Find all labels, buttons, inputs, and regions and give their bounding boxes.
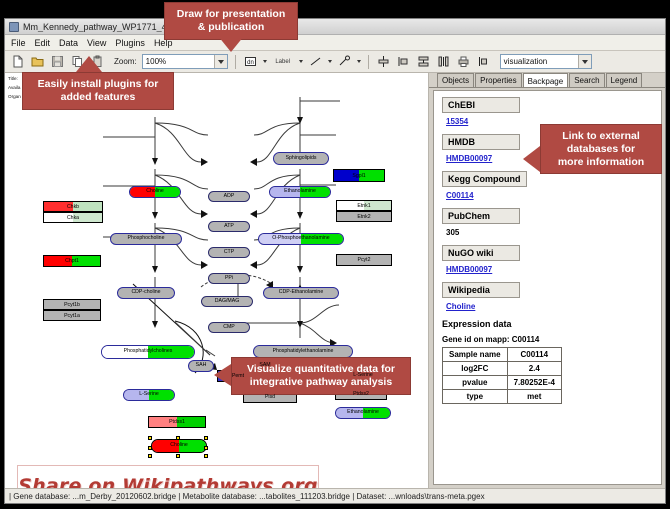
status-bar-text: | Gene database: ...m_Derby_20120602.bri…: [9, 492, 485, 501]
tab-objects[interactable]: Objects: [437, 73, 474, 87]
gene-label: Pcyt2: [358, 257, 371, 263]
node-ethanolamine-top[interactable]: Ethanolamine: [269, 186, 331, 198]
status-bar: | Gene database: ...m_Derby_20120602.bri…: [5, 488, 665, 503]
plugins-callout: Easily install plugins for added feature…: [22, 72, 174, 110]
gene-chkb[interactable]: Chkb: [43, 201, 103, 212]
gene-label: Etnk1: [357, 203, 370, 209]
share-banner: Share on Wikipathways.org: [17, 465, 319, 488]
node-cmp[interactable]: CMP: [208, 322, 250, 333]
node-label: SAH: [196, 363, 207, 368]
stack-vertical-icon[interactable]: [416, 54, 431, 69]
gene-label: Ptdss2: [353, 391, 369, 397]
cell-key: type: [443, 390, 508, 404]
menu-item-edit[interactable]: Edit: [35, 38, 51, 48]
menu-item-plugins[interactable]: Plugins: [115, 38, 145, 48]
svg-text:dn: dn: [247, 60, 254, 66]
gene-pcyt2[interactable]: Pcyt2: [336, 254, 392, 266]
tab-legend[interactable]: Legend: [606, 73, 643, 87]
node-ctp[interactable]: CTP: [208, 247, 250, 258]
section-header-nugo: NuGO wiki: [442, 245, 520, 261]
gene-label: Etnk2: [357, 214, 370, 220]
visualize-callout-arrow-icon: [214, 364, 231, 386]
gene-chpt1[interactable]: Chpt1: [43, 255, 101, 267]
cell-value: met: [507, 390, 561, 404]
label-chevron-icon[interactable]: [299, 60, 303, 63]
distribute-icon[interactable]: [436, 54, 451, 69]
gene-etnk2[interactable]: Etnk2: [336, 211, 392, 222]
tab-properties[interactable]: Properties: [475, 73, 521, 87]
node-o-phosphoethanolamine[interactable]: O-Phosphoethanolamine: [258, 233, 344, 245]
open-folder-icon[interactable]: [30, 54, 45, 69]
datanode-icon[interactable]: dn: [243, 54, 258, 69]
section-header-kegg: Kegg Compound: [442, 171, 527, 187]
draw-callout: Draw for presentation & publication: [164, 2, 298, 40]
table-row: type met: [443, 390, 562, 404]
gene-ptdss1[interactable]: Ptdss1: [148, 416, 206, 428]
table-row: log2FC 2.4: [443, 362, 562, 376]
line-icon[interactable]: [308, 54, 323, 69]
gene-chka[interactable]: Chka: [43, 212, 103, 223]
node-label: Choline: [170, 443, 188, 448]
cell-value: C00114: [507, 348, 561, 362]
node-label: DAG/MAG: [215, 299, 240, 304]
node-label: ATP: [224, 224, 234, 229]
node-label: PPi: [225, 276, 233, 281]
node-label: Ethanolamine: [347, 410, 379, 415]
save-icon[interactable]: [50, 54, 65, 69]
node-label: Phosphocholine: [128, 236, 165, 241]
node-label: Phosphatidylethanolamine: [273, 349, 334, 354]
zoom-label: Zoom:: [114, 57, 137, 66]
group-icon[interactable]: [476, 54, 491, 69]
section-header-wikipedia: Wikipedia: [442, 282, 520, 298]
links-callout-arrow-icon: [523, 146, 540, 172]
section-header-pubchem: PubChem: [442, 208, 520, 224]
app-icon: [9, 22, 19, 32]
gene-pcyt1a[interactable]: Pcyt1a: [43, 310, 101, 321]
menu-item-file[interactable]: File: [11, 38, 26, 48]
expression-data-title: Expression data: [442, 319, 653, 329]
node-l-serine-left[interactable]: L-Serine: [123, 389, 175, 401]
section-header-hmdb: HMDB: [442, 134, 520, 150]
node-label: O-Phosphoethanolamine: [272, 236, 329, 241]
draw-callout-line1: Draw for presentation & publication: [177, 8, 286, 33]
datanode-chevron-icon[interactable]: [263, 60, 267, 63]
table-row: pvalue 7.80252E-4: [443, 376, 562, 390]
align-center-icon[interactable]: [376, 54, 391, 69]
zoom-combo[interactable]: 100%: [142, 54, 228, 69]
gene-label: Ptdss1: [169, 419, 185, 425]
gene-label: Chkb: [67, 204, 79, 210]
tab-backpage[interactable]: Backpage: [523, 73, 569, 87]
tab-search[interactable]: Search: [569, 73, 604, 87]
node-atp[interactable]: ATP: [208, 221, 250, 232]
node-choline-top[interactable]: Choline: [129, 186, 181, 198]
toolbar: Zoom: 100% dn Label: [5, 51, 665, 73]
link-kegg[interactable]: C00114: [446, 191, 653, 200]
align-left-icon[interactable]: [396, 54, 411, 69]
chevron-down-icon[interactable]: [214, 55, 227, 68]
visualize-callout: Visualize quantitative data for integrat…: [231, 357, 411, 395]
interaction-chevron-icon[interactable]: [357, 60, 361, 63]
node-phosphocholine[interactable]: Phosphocholine: [110, 233, 182, 245]
gene-id-line: Gene id on mapp: C00114: [442, 335, 653, 344]
share-banner-text: Share on Wikipathways.org: [18, 475, 317, 488]
print-icon[interactable]: [456, 54, 471, 69]
label-dropdown-text: Label: [275, 59, 290, 65]
toolbar-separator-2: [368, 55, 369, 69]
pathway-canvas[interactable]: Title: Availa Organ: [5, 73, 429, 488]
node-sphingolipids[interactable]: Sphingolipids: [273, 152, 329, 165]
line-chevron-icon[interactable]: [328, 60, 332, 63]
gene-sgpl1[interactable]: Sgpl1: [333, 169, 385, 182]
node-choline-selected[interactable]: Choline: [151, 439, 207, 453]
link-wikipedia[interactable]: Choline: [446, 302, 653, 311]
title-bar: Mm_Kennedy_pathway_WP1771_45176.gpml: [5, 19, 665, 35]
label-dropdown[interactable]: Label: [272, 54, 294, 69]
expression-table: Sample name C00114 log2FC 2.4 pvalue 7.8…: [442, 347, 562, 404]
gene-label: Sgpl1: [352, 173, 365, 179]
node-label: CTP: [224, 250, 234, 255]
cell-key: log2FC: [443, 362, 508, 376]
node-label: Ethanolamine: [284, 189, 316, 194]
node-label: Phosphatidylcholines: [124, 349, 173, 354]
node-label: SAM: [259, 363, 270, 368]
new-file-icon[interactable]: [10, 54, 25, 69]
node-label: L-Serine: [353, 373, 373, 378]
toolbar-separator: [235, 55, 236, 69]
node-ethanolamine-right[interactable]: Ethanolamine: [335, 407, 391, 419]
node-label: CMP: [223, 325, 235, 330]
menu-item-view[interactable]: View: [87, 38, 106, 48]
node-label: CDP-choline: [131, 290, 160, 295]
section-header-chebi: ChEBI: [442, 97, 520, 113]
node-cdp-ethanolamine[interactable]: CDP-Ethanolamine: [263, 287, 339, 299]
cell-value: 2.4: [507, 362, 561, 376]
gene-label: Pemt: [232, 373, 244, 379]
cell-value: 7.80252E-4: [507, 376, 561, 390]
node-ppi[interactable]: PPi: [208, 273, 250, 284]
node-label: Sphingolipids: [286, 156, 317, 161]
value-pubchem: 305: [446, 228, 653, 237]
link-nugo[interactable]: HMDB00097: [446, 265, 653, 274]
gene-label: Pcyt1a: [64, 313, 80, 319]
menu-item-data[interactable]: Data: [59, 38, 78, 48]
interaction-icon[interactable]: [337, 54, 352, 69]
zoom-value: 100%: [146, 57, 166, 66]
node-phosphatidylcholines[interactable]: Phosphatidylcholines: [101, 345, 195, 359]
gene-etnk1[interactable]: Etnk1: [336, 200, 392, 211]
links-callout: Link to external databases for more info…: [540, 124, 662, 174]
links-callout-text: Link to external databases for more info…: [558, 130, 644, 168]
gene-label: Chpt1: [65, 258, 79, 264]
cell-key: pvalue: [443, 376, 508, 390]
visualization-value: visualization: [504, 57, 548, 66]
table-row: Sample name C00114: [443, 348, 562, 362]
node-label: L-Serine: [139, 392, 159, 397]
side-panel-tabs: Objects Properties Backpage Search Legen…: [429, 73, 665, 88]
node-label: ADP: [224, 194, 235, 199]
node-label: Choline: [146, 189, 164, 194]
gene-label: Pisd: [265, 394, 275, 400]
visualization-chevron-icon[interactable]: [578, 55, 591, 68]
visualization-combo[interactable]: visualization: [500, 54, 592, 69]
node-label: CDP-Ethanolamine: [279, 290, 323, 295]
gene-pcyt1b[interactable]: Pcyt1b: [43, 299, 101, 310]
gene-label: Pcyt1b: [64, 302, 80, 308]
gene-label: Chka: [67, 215, 79, 221]
plugins-callout-arrow-icon: [76, 56, 102, 72]
plugins-callout-text: Easily install plugins for added feature…: [38, 78, 159, 103]
node-dagmag[interactable]: DAG/MAG: [201, 296, 253, 307]
cell-key: Sample name: [443, 348, 508, 362]
node-cdp-choline[interactable]: CDP-choline: [117, 287, 175, 299]
menu-bar: File Edit Data View Plugins Help: [5, 35, 665, 51]
node-sah[interactable]: SAH: [188, 360, 214, 372]
draw-callout-arrow-icon: [218, 36, 244, 52]
node-adp[interactable]: ADP: [208, 191, 250, 202]
